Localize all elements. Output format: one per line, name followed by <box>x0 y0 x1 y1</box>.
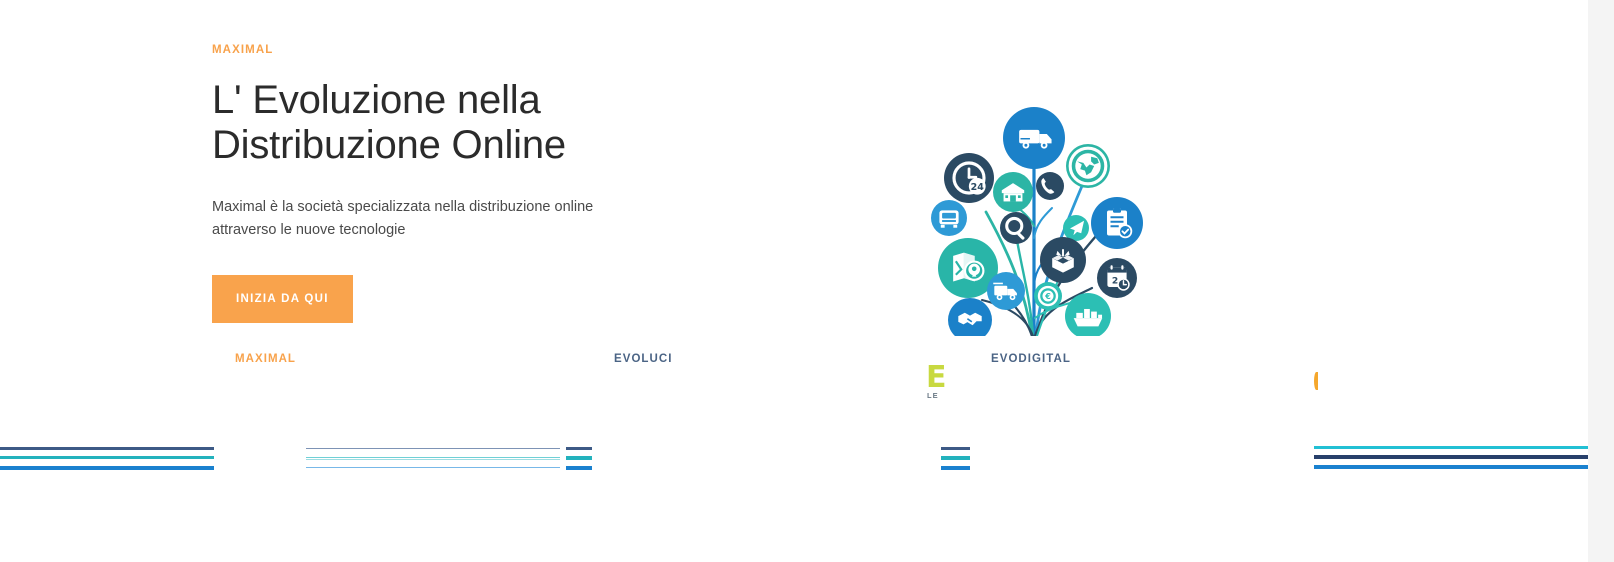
evoluci-logo-fragment[interactable]: E LE <box>922 365 950 403</box>
brand-label-evodigital[interactable]: EVODIGITAL <box>991 353 1071 365</box>
node-clock-24h <box>944 153 994 203</box>
node-clipboard-check <box>1091 197 1143 249</box>
logistics-network-tree-illustration: 24 <box>920 88 1165 336</box>
hero-eyebrow: MAXIMAL <box>212 44 692 56</box>
node-phone <box>1036 172 1064 200</box>
rule-line-blue <box>0 466 214 470</box>
hero-title-line-2: Distribuzione Online <box>212 123 566 167</box>
rule-thin-blue <box>306 467 560 468</box>
page-title: L' Evoluzione nella Distribuzione Online <box>212 78 692 168</box>
node-warehouse <box>993 172 1033 212</box>
node-airplane <box>1063 215 1089 241</box>
hero-title-line-1: L' Evoluzione nella <box>212 78 541 122</box>
rule-line-teal <box>0 456 214 459</box>
orange-logo-fragment[interactable] <box>1314 372 1318 390</box>
node-cargo-ship <box>1065 293 1111 336</box>
rule-thin-navy <box>306 448 560 449</box>
tree-nodes <box>931 107 1143 336</box>
hero-subtitle: Maximal è la società specializzata nella… <box>212 196 597 243</box>
rule-line-blue <box>1314 465 1588 469</box>
node-globe <box>1066 144 1110 188</box>
node-truck <box>987 272 1025 310</box>
node-handshake <box>948 298 992 336</box>
node-open-box <box>1040 237 1086 283</box>
rule-line-cyan <box>1314 446 1588 449</box>
node-calendar-clock <box>1097 258 1137 298</box>
inizia-da-qui-button[interactable]: INIZIA DA QUI <box>212 275 353 323</box>
hero-section: MAXIMAL L' Evoluzione nella Distribuzion… <box>212 44 692 323</box>
node-train <box>931 200 967 236</box>
rule-line-navy <box>1314 455 1588 459</box>
rule-line-blue <box>941 466 970 470</box>
rule-line-navy <box>941 447 970 450</box>
content-canvas: MAXIMAL L' Evoluzione nella Distribuzion… <box>0 0 1588 562</box>
rule-cap-teal <box>566 456 592 460</box>
rule-thin-teal <box>306 457 560 458</box>
rule-cap-navy <box>566 447 592 450</box>
brand-label-maximal[interactable]: MAXIMAL <box>235 353 296 365</box>
logo-e-subtext: LE <box>927 391 950 400</box>
brand-label-evoluci[interactable]: EVOLUCI <box>614 353 672 365</box>
tree-svg: 24 <box>920 88 1165 336</box>
node-coin-euro <box>1034 282 1062 310</box>
rule-line-navy <box>0 447 214 450</box>
node-delivery-van <box>1003 107 1065 169</box>
logo-e-glyph: E <box>926 365 950 391</box>
page-right-gutter <box>1588 0 1614 562</box>
rule-cap-blue <box>566 466 592 470</box>
node-search <box>1000 212 1032 244</box>
page-root: MAXIMAL L' Evoluzione nella Distribuzion… <box>0 0 1614 562</box>
rule-line-teal <box>941 456 970 460</box>
rule-thin-cyan <box>306 459 560 460</box>
